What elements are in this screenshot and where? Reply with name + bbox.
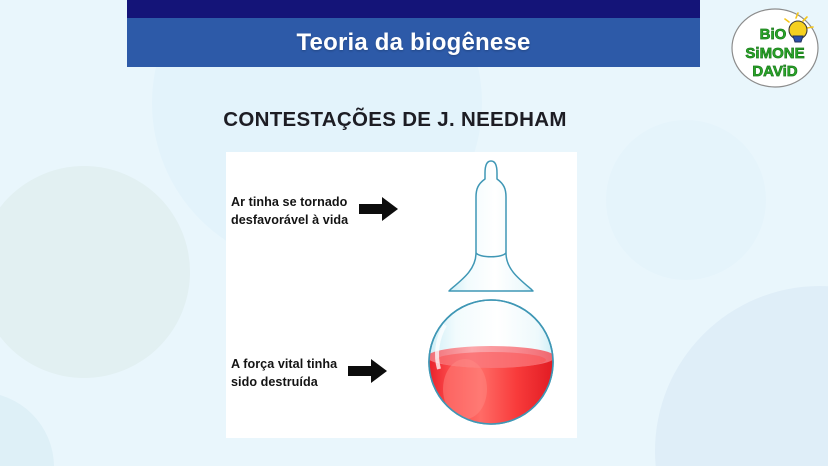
logo-line-3: DAViD <box>752 63 797 80</box>
background-circle-bottom-right <box>655 286 828 466</box>
banner-top-strip <box>127 0 700 18</box>
arrow-right-icon <box>348 358 388 389</box>
title-banner: Teoria da biogênese <box>127 0 700 67</box>
sealed-flask-illustration <box>401 157 581 437</box>
annotation-vital-force-destroyed: A força vital tinha sido destruída <box>231 356 388 392</box>
logo-line-2: SiMONE <box>745 45 804 62</box>
annotation-text: Ar tinha se tornado desfavorável à vida <box>231 194 348 230</box>
annotation-text: A força vital tinha sido destruída <box>231 356 337 392</box>
flask-neck <box>449 161 533 291</box>
page-title: CONTESTAÇÕES DE J. NEEDHAM <box>0 108 790 132</box>
annotation-air-unfavorable: Ar tinha se tornado desfavorável à vida <box>231 194 399 230</box>
slide-title: Teoria da biogênese <box>296 29 530 57</box>
brand-logo: BiO SiMONE DAViD <box>730 6 820 90</box>
background-circle-right-small <box>606 120 766 280</box>
background-circle-bottom-left <box>0 392 54 466</box>
banner-band: Teoria da biogênese <box>127 18 700 67</box>
logo-line-1: BiO <box>760 26 787 43</box>
figure-panel: Ar tinha se tornado desfavorável à vida … <box>226 152 577 438</box>
arrow-right-icon <box>359 196 399 227</box>
background-circle-left <box>0 166 190 378</box>
slide-canvas: Teoria da biogênese BiO SiMONE DAViD CON… <box>0 0 828 466</box>
